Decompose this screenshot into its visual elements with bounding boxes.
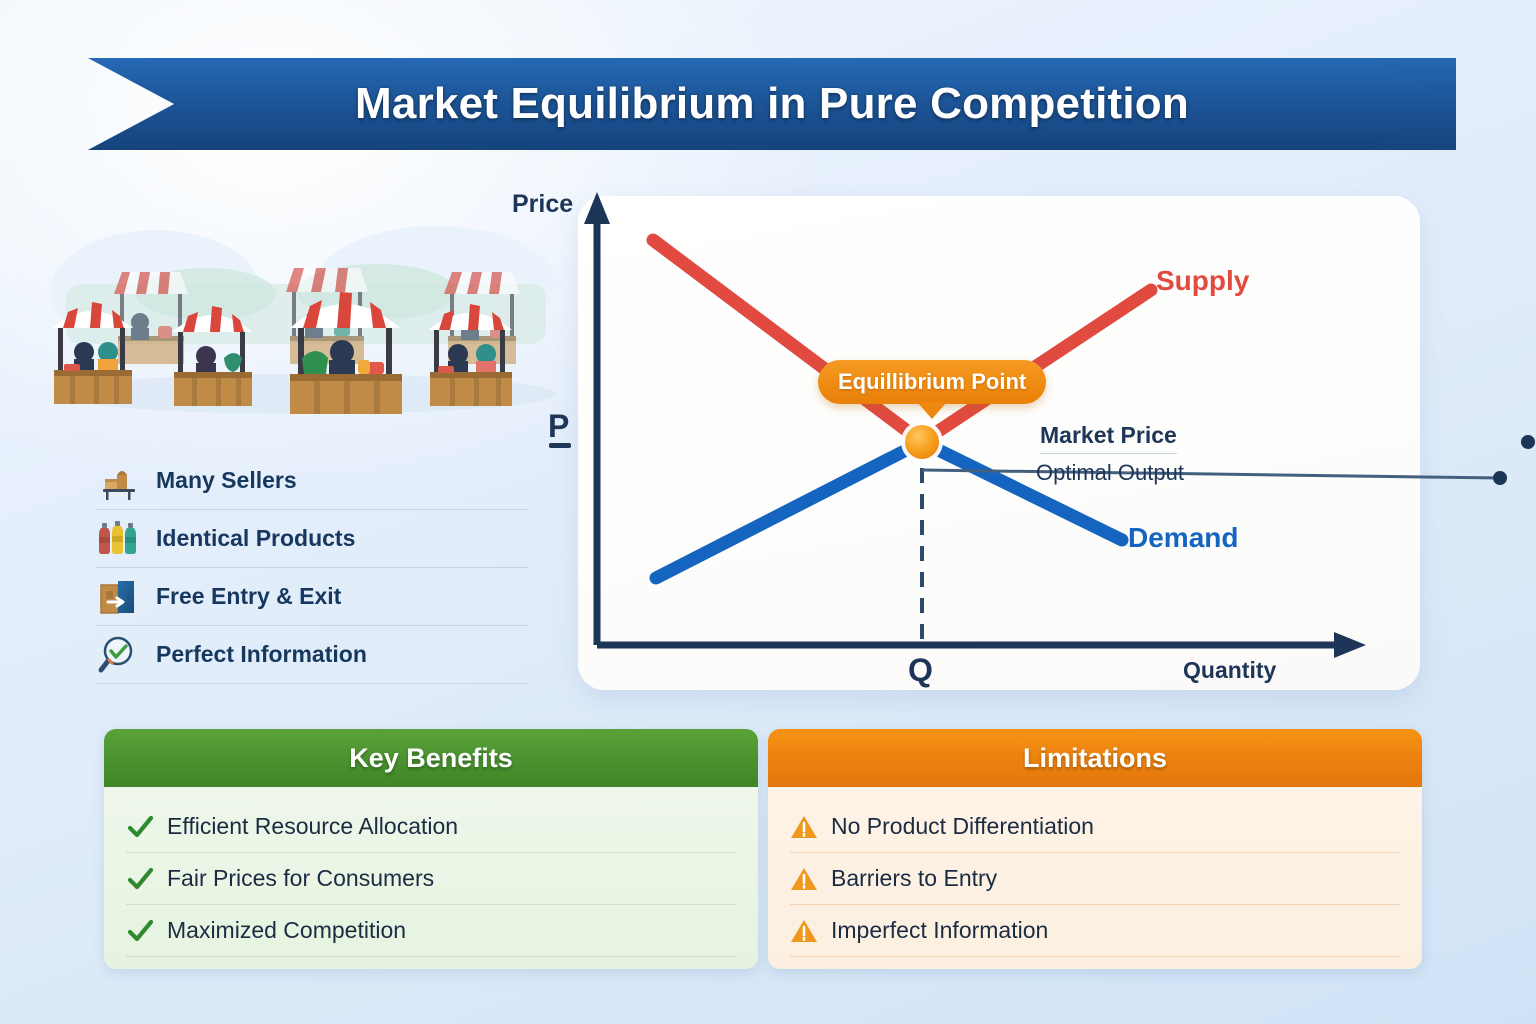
feature-item-many-sellers[interactable]: Many Sellers [96,452,528,510]
optimal-output-label: Optimal Output [1036,460,1184,486]
limitation-label: Barriers to Entry [831,865,997,892]
check-icon [126,813,154,841]
limitation-label: No Product Differentiation [831,813,1094,840]
check-icon [126,865,154,893]
infographic-stage: Market Equilibrium in Pure Competition [0,0,1536,1024]
page-title: Market Equilibrium in Pure Competition [355,79,1189,129]
benefit-label: Efficient Resource Allocation [167,813,458,840]
limitation-item[interactable]: Imperfect Information [790,905,1400,957]
feature-item-identical-products[interactable]: Identical Products [96,510,528,568]
feature-list: Many Sellers [96,452,528,684]
check-icon [126,917,154,945]
market-price-dot [1521,435,1535,449]
market-stall-icon [96,459,142,503]
title-ribbon: Market Equilibrium in Pure Competition [88,58,1456,150]
benefit-item[interactable]: Fair Prices for Consumers [126,853,736,905]
bottles-icon [96,517,142,561]
key-benefits-panel: Key Benefits Efficient Resource Allocati… [104,729,758,969]
feature-item-perfect-information[interactable]: Perfect Information [96,626,528,684]
demand-legend-label: Demand [1128,522,1238,554]
limitations-heading: Limitations [768,729,1422,787]
door-arrow-icon [96,575,142,619]
limitation-item[interactable]: Barriers to Entry [790,853,1400,905]
magnifier-check-icon [96,633,142,677]
feature-label: Free Entry & Exit [156,583,341,610]
warning-triangle-icon [790,813,818,841]
benefit-item[interactable]: Efficient Resource Allocation [126,801,736,853]
y-axis-label: Price [512,190,573,219]
limitation-label: Imperfect Information [831,917,1048,944]
equilibrium-dot [905,425,939,459]
benefit-item[interactable]: Maximized Competition [126,905,736,957]
limitations-panel: Limitations No Product Differentiation [768,729,1422,969]
warning-triangle-icon [790,917,818,945]
supply-curve [653,240,1151,442]
benefit-label: Maximized Competition [167,917,406,944]
feature-label: Identical Products [156,525,355,552]
limitation-item[interactable]: No Product Differentiation [790,801,1400,853]
x-axis-arrowhead [1334,632,1366,658]
limitations-list: No Product Differentiation Barriers to E… [768,787,1422,969]
benefit-label: Fair Prices for Consumers [167,865,434,892]
optimal-output-dot [1493,471,1507,485]
price-tick-bar [549,443,571,448]
benefits-heading: Key Benefits [104,729,758,787]
price-tick-label: P [548,408,569,445]
supply-legend-label: Supply [1156,265,1249,297]
x-axis-label: Quantity [1183,657,1276,684]
equilibrium-point-callout: Equillibrium Point [818,360,1046,404]
benefits-list: Efficient Resource Allocation Fair Price… [104,787,758,969]
feature-label: Many Sellers [156,467,297,494]
y-axis-arrowhead [584,192,610,224]
market-price-label: Market Price [1040,422,1177,454]
feature-label: Perfect Information [156,641,367,668]
supply-demand-chart [500,180,1400,710]
feature-item-free-entry-exit[interactable]: Free Entry & Exit [96,568,528,626]
warning-triangle-icon [790,865,818,893]
market-stalls-illustration [36,222,576,422]
quantity-tick-label: Q [908,652,933,689]
